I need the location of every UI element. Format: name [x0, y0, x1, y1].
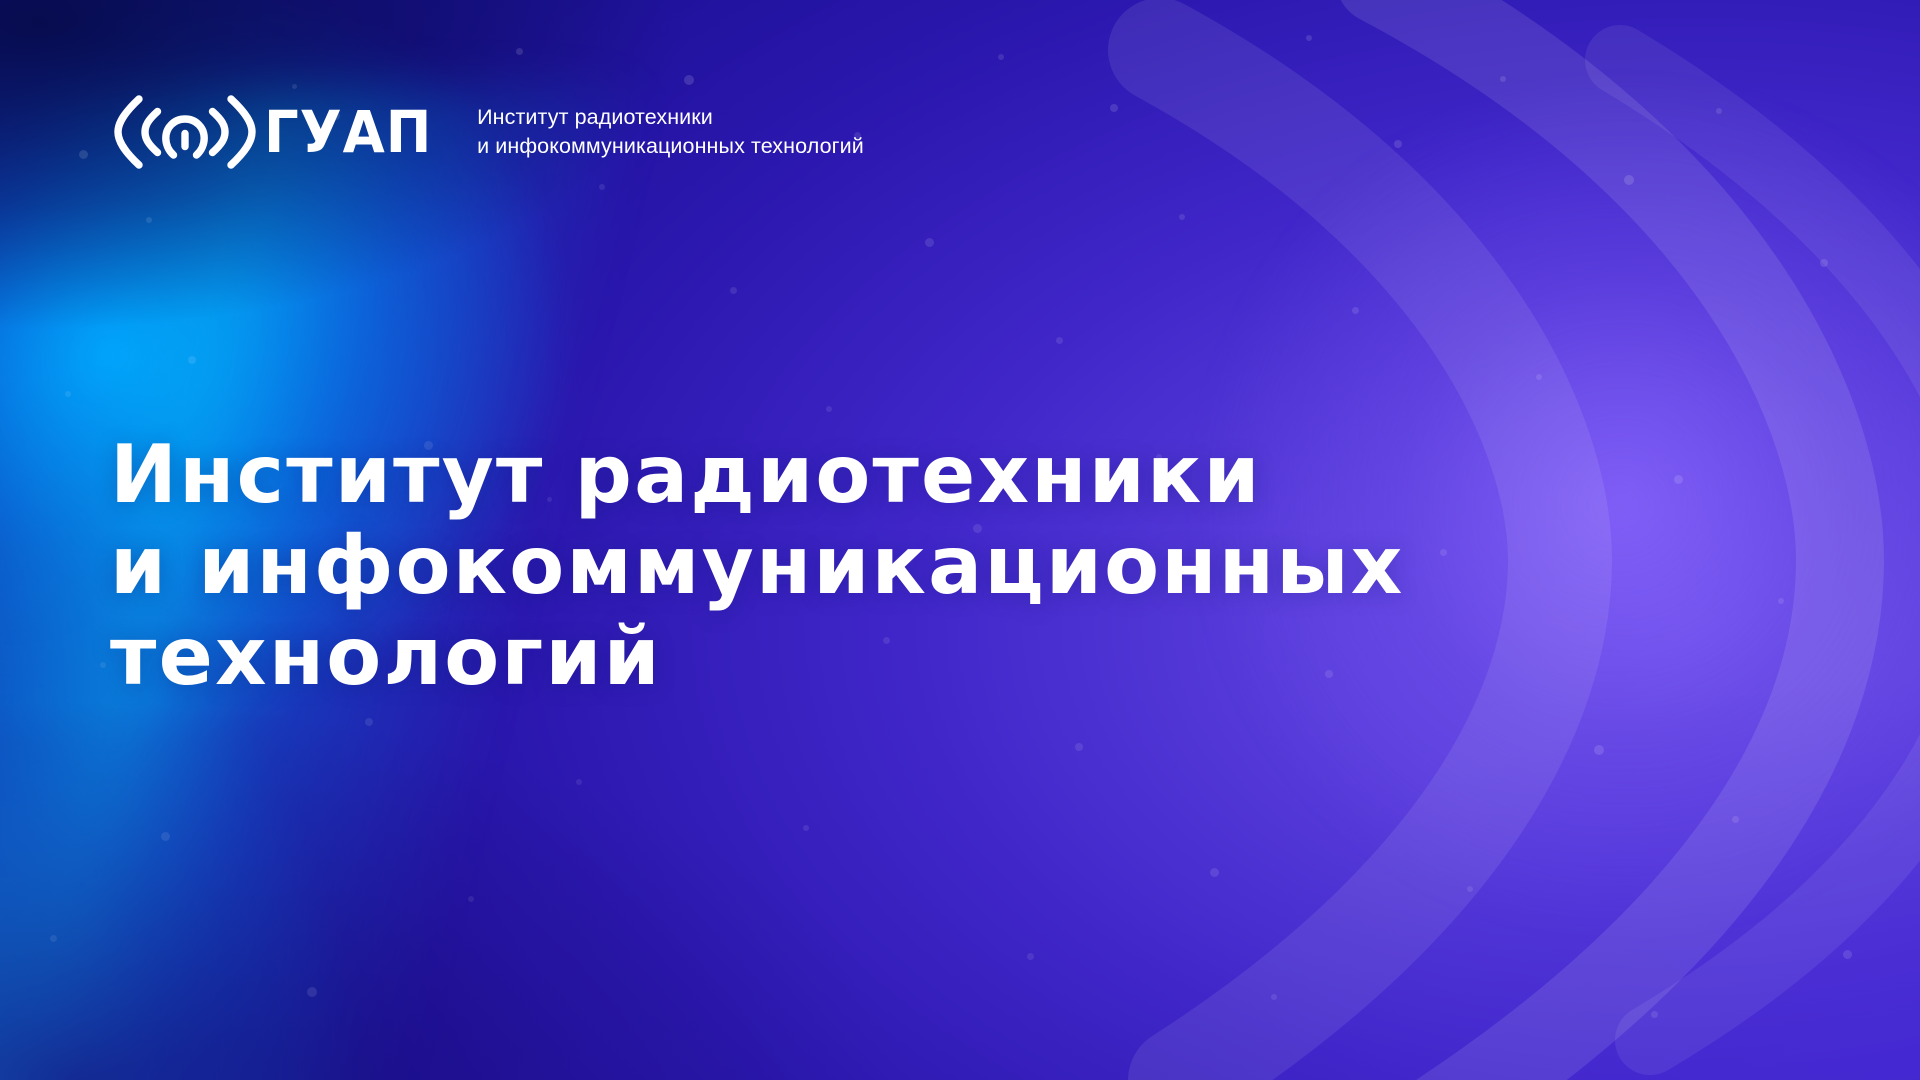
- radio-signal-wave-icon: [112, 93, 258, 171]
- logo-lockup[interactable]: ГУАП Институт радиотехники и инфокоммуни…: [112, 93, 864, 171]
- logo-subtitle-line-1: Институт радиотехники: [477, 103, 864, 132]
- logo-subtitle-line-2: и инфокоммуникационных технологий: [477, 132, 864, 161]
- logo-wordmark: ГУАП: [264, 103, 432, 161]
- page-title: Институт радиотехники и инфокоммуникацио…: [110, 430, 1405, 702]
- logo-subtitle: Институт радиотехники и инфокоммуникацио…: [477, 103, 864, 160]
- page-title-line-1: Институт радиотехники: [110, 430, 1405, 521]
- page-title-line-3: технологий: [110, 612, 1405, 703]
- page-title-line-2: и инфокоммуникационных: [110, 521, 1405, 612]
- banner: ГУАП Институт радиотехники и инфокоммуни…: [0, 0, 1920, 1080]
